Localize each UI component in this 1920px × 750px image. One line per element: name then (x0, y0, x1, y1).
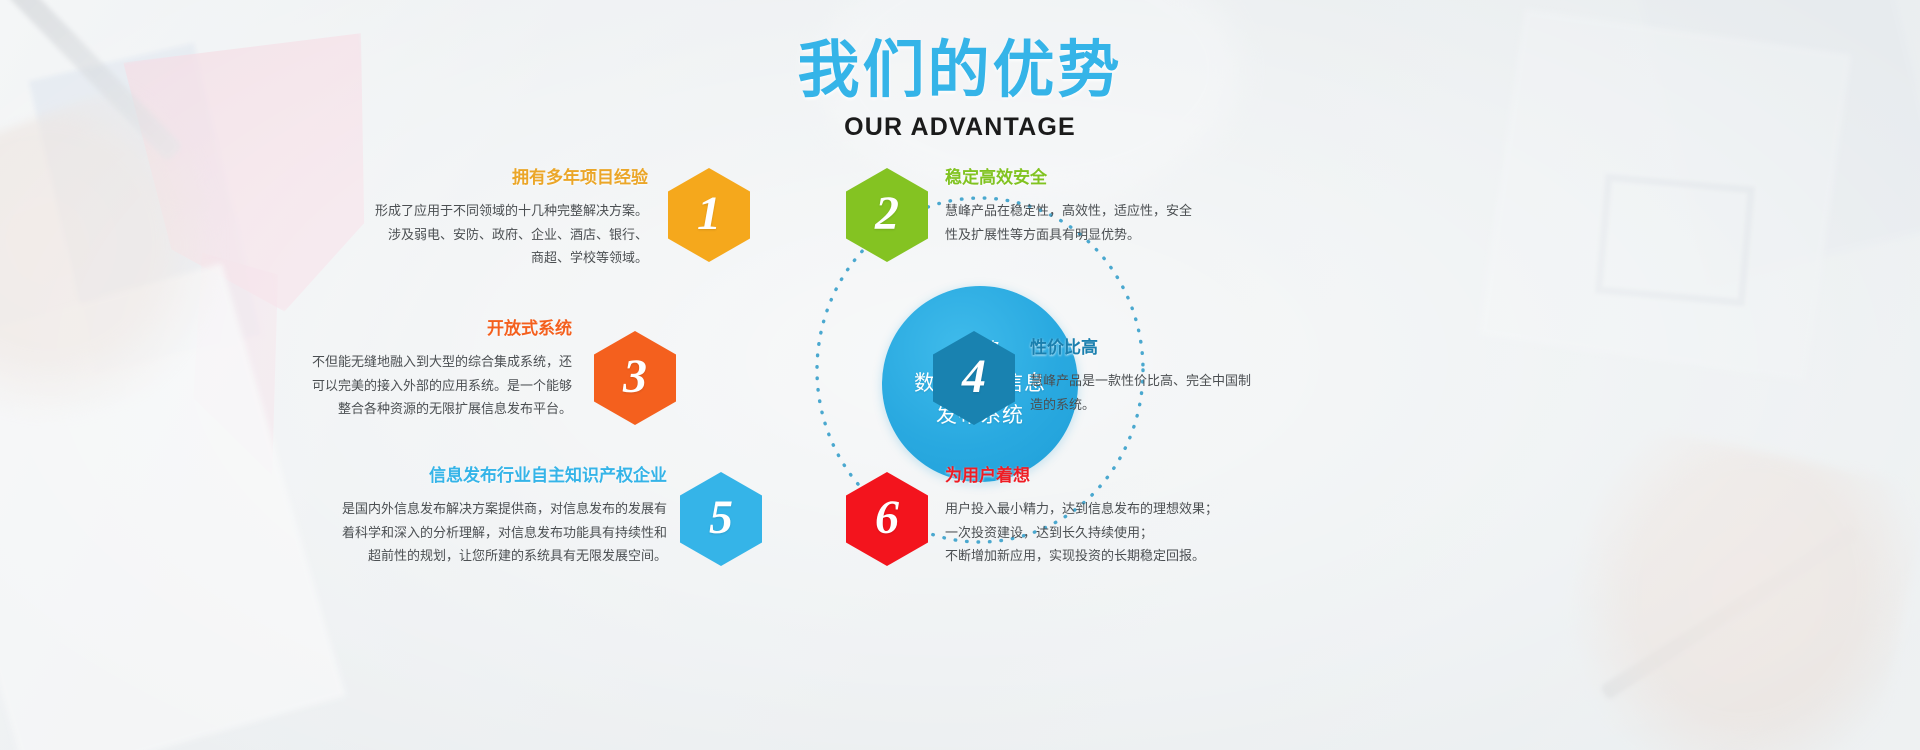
hexagon-number-4: 4 (962, 353, 986, 401)
advantage-title-6: 为用户着想 (945, 465, 1285, 487)
advantage-body-4-line-2: 造的系统。 (1030, 393, 1350, 417)
advantage-body-6-line-2: 一次投资建设，达到长久持续使用； (945, 521, 1285, 545)
advantage-item-3: 开放式系统 不但能无缝地融入到大型的综合集成系统，还 可以完美的接入外部的应用系… (232, 318, 572, 421)
advantage-title-3: 开放式系统 (232, 318, 572, 340)
advantage-body-1: 形成了应用于不同领域的十几种完整解决方案。 涉及弱电、安防、政府、企业、酒店、银… (312, 199, 648, 270)
hexagon-number-3: 3 (623, 353, 647, 401)
advantage-body-6-line-3: 不断增加新应用，实现投资的长期稳定回报。 (945, 544, 1285, 568)
advantage-body-1-line-2: 涉及弱电、安防、政府、企业、酒店、银行、 (312, 223, 648, 247)
advantage-body-1-line-3: 商超、学校等领域。 (312, 246, 648, 270)
advantage-item-1: 拥有多年项目经验 形成了应用于不同领域的十几种完整解决方案。 涉及弱电、安防、政… (312, 167, 648, 270)
advantage-body-3: 不但能无缝地融入到大型的综合集成系统，还 可以完美的接入外部的应用系统。是一个能… (232, 350, 572, 421)
advantage-body-4: 慧峰产品是一款性价比高、完全中国制 造的系统。 (1030, 369, 1350, 416)
advantage-title-4: 性价比高 (1030, 337, 1350, 359)
advantage-body-4-line-1: 慧峰产品是一款性价比高、完全中国制 (1030, 369, 1350, 393)
advantage-body-5-line-3: 超前性的规划，让您所建的系统具有无限发展空间。 (272, 544, 667, 568)
page-title-cn: 我们的优势 (0, 36, 1920, 105)
advantage-item-4: 性价比高 慧峰产品是一款性价比高、完全中国制 造的系统。 (1030, 337, 1350, 416)
advantage-item-5: 信息发布行业自主知识产权企业 是国内外信息发布解决方案提供商，对信息发布的发展有… (272, 465, 667, 568)
advantage-body-2-line-1: 慧峰产品在稳定性，高效性，适应性，安全 (945, 199, 1285, 223)
advantage-infographic: 我们的优势 OUR ADVANTAGE 慧峰 数字媒体信息 发布系统 1 2 3… (0, 0, 1920, 750)
advantage-body-5-line-1: 是国内外信息发布解决方案提供商，对信息发布的发展有 (272, 497, 667, 521)
advantage-item-6: 为用户着想 用户投入最小精力，达到信息发布的理想效果； 一次投资建设，达到长久持… (945, 465, 1285, 568)
advantage-body-3-line-3: 整合各种资源的无限扩展信息发布平台。 (232, 397, 572, 421)
page-heading: 我们的优势 OUR ADVANTAGE (0, 36, 1920, 142)
advantage-body-1-line-1: 形成了应用于不同领域的十几种完整解决方案。 (312, 199, 648, 223)
advantage-title-5: 信息发布行业自主知识产权企业 (272, 465, 667, 487)
hexagon-badge-3[interactable]: 3 (594, 331, 676, 425)
hexagon-number-1: 1 (697, 190, 721, 238)
advantage-body-6: 用户投入最小精力，达到信息发布的理想效果； 一次投资建设，达到长久持续使用； 不… (945, 497, 1285, 568)
hexagon-badge-1[interactable]: 1 (668, 168, 750, 262)
advantage-body-5: 是国内外信息发布解决方案提供商，对信息发布的发展有 着科学和深入的分析理解，对信… (272, 497, 667, 568)
advantage-body-3-line-1: 不但能无缝地融入到大型的综合集成系统，还 (232, 350, 572, 374)
advantage-body-3-line-2: 可以完美的接入外部的应用系统。是一个能够 (232, 374, 572, 398)
advantage-item-2: 稳定高效安全 慧峰产品在稳定性，高效性，适应性，安全 性及扩展性等方面具有明显优… (945, 167, 1285, 246)
advantage-body-5-line-2: 着科学和深入的分析理解，对信息发布功能具有持续性和 (272, 521, 667, 545)
hexagon-number-2: 2 (875, 190, 899, 238)
hexagon-number-5: 5 (709, 494, 733, 542)
advantage-body-2-line-2: 性及扩展性等方面具有明显优势。 (945, 223, 1285, 247)
page-subtitle-en: OUR ADVANTAGE (0, 113, 1920, 142)
advantage-title-2: 稳定高效安全 (945, 167, 1285, 189)
advantage-body-2: 慧峰产品在稳定性，高效性，适应性，安全 性及扩展性等方面具有明显优势。 (945, 199, 1285, 246)
advantage-title-1: 拥有多年项目经验 (312, 167, 648, 189)
hexagon-number-6: 6 (875, 494, 899, 542)
advantage-body-6-line-1: 用户投入最小精力，达到信息发布的理想效果； (945, 497, 1285, 521)
hexagon-badge-5[interactable]: 5 (680, 472, 762, 566)
